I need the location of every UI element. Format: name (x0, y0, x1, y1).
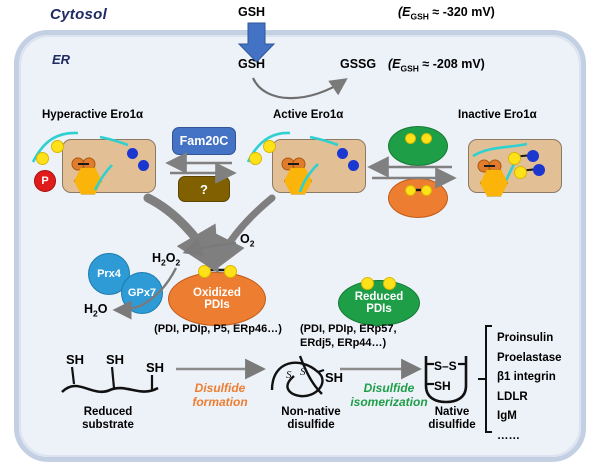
svg-text:S: S (286, 369, 292, 381)
active-ero1-to-oxidized-pdi-arrow (218, 198, 272, 262)
ero1-redox-equilibrium-arrows (372, 167, 452, 178)
gsh-transport-arrow (239, 23, 274, 62)
figure-canvas: Cytosol ER GSH GSH GSSG (EGSH ≈ -320 mV)… (0, 0, 600, 474)
gsh-to-gssg-arrow (253, 78, 345, 98)
client-protein-bracket (478, 326, 492, 432)
svg-text:S: S (300, 366, 306, 378)
nonnative-disulfide-structure: S S (272, 356, 324, 396)
diagram-arrows-layer: S S (0, 0, 600, 474)
reduced-substrate-structure (62, 367, 158, 392)
h2o2-to-peroxidase-path (140, 268, 176, 306)
hyperactive-ero1-to-oxidized-pdi-arrow (148, 198, 212, 262)
peroxidase-to-water-arrow (116, 306, 140, 310)
native-disulfide-structure (426, 356, 466, 402)
fam20c-equilibrium-arrows (170, 163, 232, 173)
